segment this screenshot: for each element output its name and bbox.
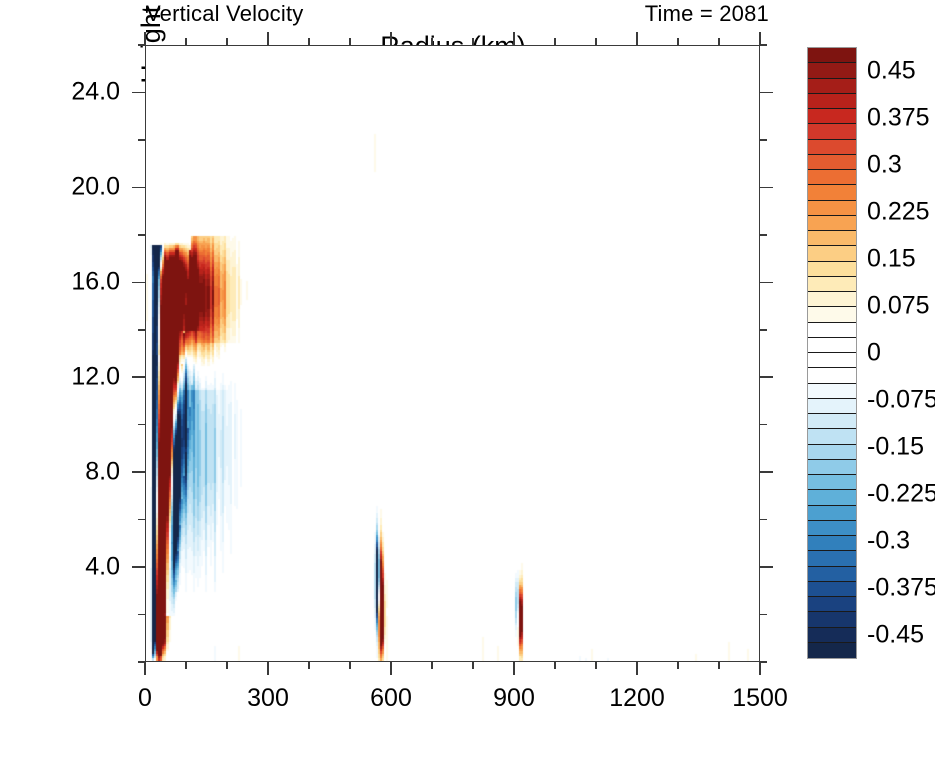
x-tick-minor	[185, 662, 187, 669]
x-tick-major	[759, 662, 761, 675]
colorbar-tick-label: 0.225	[867, 197, 930, 226]
colorbar-tick-label: 0.375	[867, 103, 930, 132]
y-tick-major	[132, 376, 145, 378]
x-tick-major-top	[636, 32, 638, 45]
vertical-velocity-figure: Vertical Velocity Time = 2081 Height (km…	[0, 0, 935, 774]
x-tick-major-top	[390, 32, 392, 45]
x-tick-label: 600	[370, 684, 412, 713]
colorbar-cell	[808, 353, 856, 368]
colorbar-tick-label: 0.075	[867, 291, 930, 320]
x-tick-minor	[226, 662, 228, 669]
x-tick-label: 300	[247, 684, 289, 713]
colorbar-cell	[808, 155, 856, 170]
colorbar-cells	[807, 47, 857, 659]
x-tick-major	[390, 662, 392, 675]
colorbar-cell	[808, 201, 856, 216]
vertical-velocity-heatmap	[146, 46, 760, 662]
colorbar-cell	[808, 307, 856, 322]
x-tick-major	[636, 662, 638, 675]
colorbar-cell	[808, 246, 856, 261]
x-tick-label: 0	[138, 684, 152, 713]
time-annotation: Time = 2081	[645, 1, 769, 27]
x-tick-major-top	[144, 32, 146, 45]
colorbar-cell	[808, 94, 856, 109]
colorbar: 0.450.3750.30.2250.150.0750-0.075-0.15-0…	[807, 47, 857, 659]
y-tick-major	[132, 187, 145, 189]
colorbar-tick-label: 0.45	[867, 56, 916, 85]
y-tick-label: 8.0	[0, 458, 120, 487]
x-tick-label: 1200	[609, 684, 665, 713]
y-tick-minor-right	[760, 614, 767, 616]
y-tick-minor-right	[760, 139, 767, 141]
y-tick-label: 24.0	[0, 78, 120, 107]
y-tick-label: 20.0	[0, 173, 120, 202]
x-tick-minor-top	[226, 38, 228, 45]
y-tick-major-right	[760, 566, 773, 568]
y-tick-minor	[138, 329, 145, 331]
y-tick-minor	[138, 614, 145, 616]
x-tick-minor	[677, 662, 679, 669]
y-tick-major-right	[760, 92, 773, 94]
y-tick-minor-right	[760, 234, 767, 236]
y-tick-minor	[138, 661, 145, 663]
colorbar-cell	[808, 140, 856, 155]
y-tick-label: 4.0	[0, 553, 120, 582]
colorbar-cell	[808, 48, 856, 63]
y-tick-minor-right	[760, 44, 767, 46]
y-tick-major-right	[760, 282, 773, 284]
colorbar-cell	[808, 79, 856, 94]
x-tick-minor-top	[185, 38, 187, 45]
plot-title: Vertical Velocity	[146, 1, 303, 27]
y-tick-major	[132, 92, 145, 94]
colorbar-cell	[808, 551, 856, 566]
x-tick-major	[267, 662, 269, 675]
colorbar-tick-label: 0.3	[867, 150, 902, 179]
colorbar-cell	[808, 338, 856, 353]
x-tick-minor-top	[349, 38, 351, 45]
x-tick-minor	[718, 662, 720, 669]
y-tick-minor	[138, 44, 145, 46]
colorbar-cell	[808, 445, 856, 460]
x-tick-label: 1500	[732, 684, 788, 713]
colorbar-cell	[808, 368, 856, 383]
y-tick-minor	[138, 519, 145, 521]
colorbar-cell	[808, 567, 856, 582]
y-tick-major	[132, 471, 145, 473]
x-tick-major-top	[267, 32, 269, 45]
x-tick-major-top	[759, 32, 761, 45]
colorbar-cell	[808, 323, 856, 338]
x-tick-major	[144, 662, 146, 675]
x-tick-minor	[472, 662, 474, 669]
x-tick-minor	[431, 662, 433, 669]
colorbar-cell	[808, 414, 856, 429]
y-tick-major	[132, 566, 145, 568]
colorbar-cell	[808, 185, 856, 200]
colorbar-cell	[808, 490, 856, 505]
colorbar-tick-label: -0.375	[867, 574, 935, 603]
colorbar-tick-label: -0.3	[867, 527, 910, 556]
colorbar-cell	[808, 429, 856, 444]
colorbar-cell	[808, 399, 856, 414]
x-tick-minor	[595, 662, 597, 669]
x-tick-minor-top	[308, 38, 310, 45]
colorbar-cell	[808, 124, 856, 139]
x-tick-minor	[349, 662, 351, 669]
colorbar-cell	[808, 63, 856, 78]
colorbar-tick-label: 0	[867, 339, 881, 368]
colorbar-cell	[808, 506, 856, 521]
y-tick-major-right	[760, 471, 773, 473]
colorbar-cell	[808, 384, 856, 399]
colorbar-cell	[808, 643, 856, 658]
x-tick-minor-top	[472, 38, 474, 45]
y-tick-major	[132, 282, 145, 284]
x-tick-minor-top	[554, 38, 556, 45]
colorbar-cell	[808, 109, 856, 124]
plot-area	[145, 45, 760, 662]
x-tick-minor-top	[595, 38, 597, 45]
colorbar-tick-label: 0.15	[867, 244, 916, 273]
colorbar-cell	[808, 628, 856, 643]
colorbar-cell	[808, 536, 856, 551]
colorbar-cell	[808, 521, 856, 536]
colorbar-tick-label: -0.225	[867, 480, 935, 509]
x-tick-minor-top	[431, 38, 433, 45]
colorbar-tick-label: -0.45	[867, 621, 924, 650]
y-tick-major-right	[760, 376, 773, 378]
y-tick-minor-right	[760, 519, 767, 521]
x-tick-minor	[308, 662, 310, 669]
colorbar-cell	[808, 231, 856, 246]
y-tick-minor-right	[760, 424, 767, 426]
y-tick-minor-right	[760, 661, 767, 663]
x-tick-major	[513, 662, 515, 675]
x-tick-major-top	[513, 32, 515, 45]
x-tick-label: 900	[493, 684, 535, 713]
y-tick-minor	[138, 234, 145, 236]
colorbar-cell	[808, 277, 856, 292]
colorbar-cell	[808, 460, 856, 475]
y-tick-label: 16.0	[0, 268, 120, 297]
colorbar-cell	[808, 597, 856, 612]
colorbar-cell	[808, 262, 856, 277]
colorbar-cell	[808, 475, 856, 490]
x-tick-minor	[554, 662, 556, 669]
x-tick-minor-top	[718, 38, 720, 45]
y-tick-label: 12.0	[0, 363, 120, 392]
colorbar-cell	[808, 612, 856, 627]
colorbar-cell	[808, 292, 856, 307]
colorbar-cell	[808, 582, 856, 597]
y-tick-minor	[138, 424, 145, 426]
colorbar-cell	[808, 216, 856, 231]
colorbar-cell	[808, 170, 856, 185]
y-tick-minor-right	[760, 329, 767, 331]
colorbar-tick-label: -0.15	[867, 433, 924, 462]
colorbar-tick-label: -0.075	[867, 386, 935, 415]
y-tick-major-right	[760, 187, 773, 189]
y-tick-minor	[138, 139, 145, 141]
x-tick-minor-top	[677, 38, 679, 45]
